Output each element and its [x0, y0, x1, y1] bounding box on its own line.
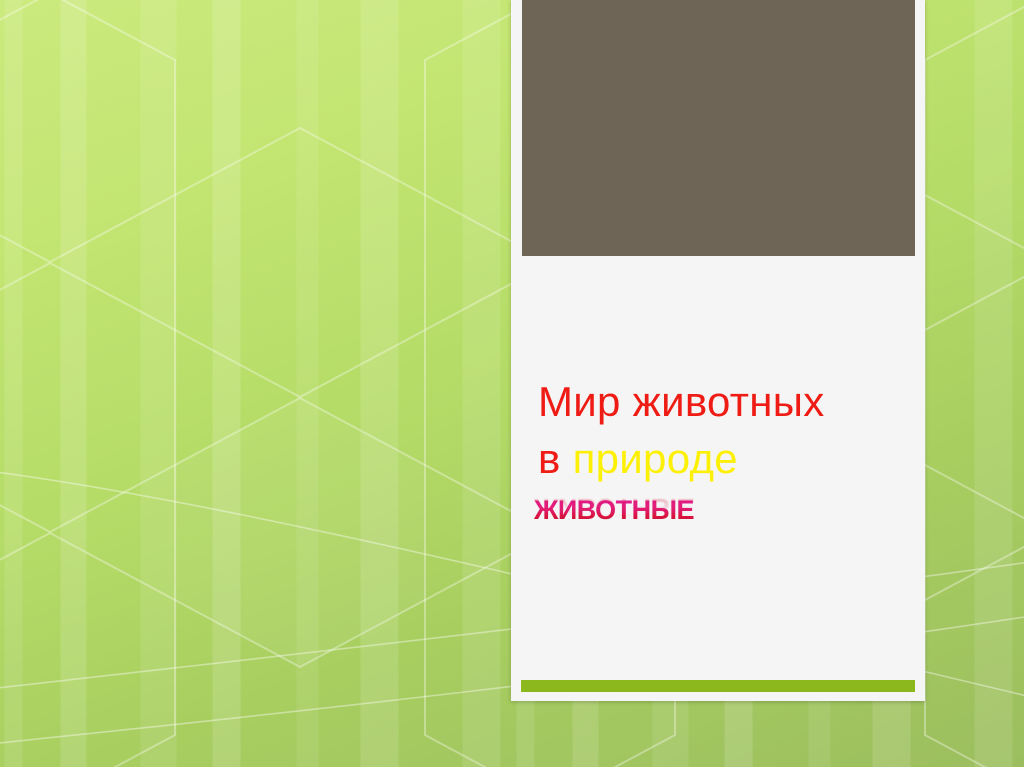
presentation-slide: Мир животных в природе ЖИВОТНЫЕ ЖИВОТНЫЕ [0, 0, 1024, 767]
title-line-2-accent: природе [573, 435, 738, 482]
page-title: Мир животных в природе [538, 373, 918, 487]
subtitle-wordart: ЖИВОТНЫЕ ЖИВОТНЫЕ [534, 496, 834, 552]
title-line-2: в природе [538, 430, 918, 487]
title-line-1: Мир животных [538, 373, 918, 430]
title-line-2-prefix: в [538, 435, 573, 482]
title-image-placeholder [522, 0, 915, 256]
accent-bar [521, 680, 915, 692]
subtitle-wordart-reflection: ЖИВОТНЫЕ [534, 494, 694, 522]
